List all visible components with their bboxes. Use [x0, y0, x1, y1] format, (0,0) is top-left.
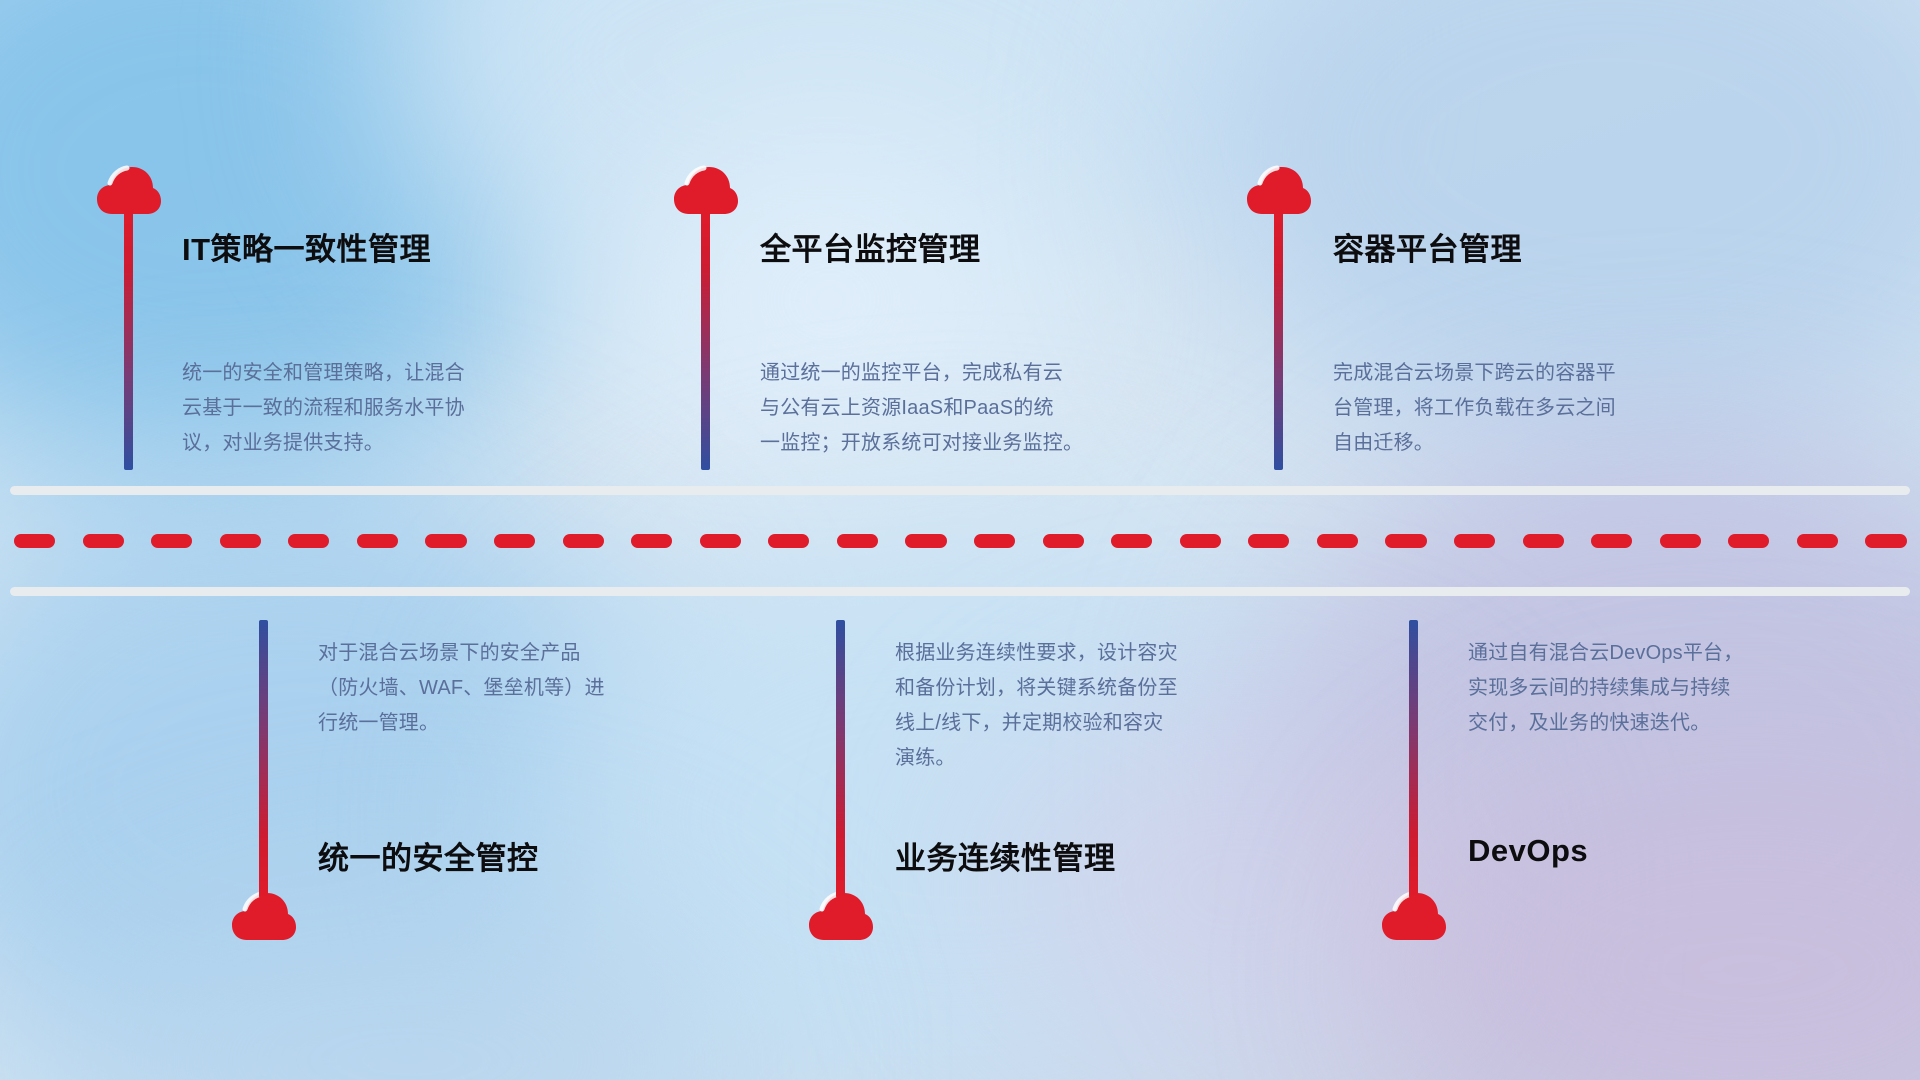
body-line: 台管理，将工作负载在多云之间: [1333, 391, 1616, 426]
bottom-item-2-body: 根据业务连续性要求，设计容灾 和备份计划，将关键系统备份至 线上/线下，并定期校…: [895, 636, 1178, 776]
road-dash: [220, 534, 261, 548]
road-dash: [1797, 534, 1838, 548]
road-line-bottom: [10, 587, 1910, 596]
road-dash: [1660, 534, 1701, 548]
body-line: 根据业务连续性要求，设计容灾: [895, 636, 1178, 671]
body-line: 云基于一致的流程和服务水平协: [182, 391, 465, 426]
road-dash: [151, 534, 192, 548]
road-dash: [1523, 534, 1564, 548]
bottom-item-1-body: 对于混合云场景下的安全产品 （防火墙、WAF、堡垒机等）进 行统一管理。: [318, 636, 605, 741]
top-item-1-title: IT策略一致性管理: [182, 224, 431, 269]
road-dash: [14, 534, 55, 548]
body-line: 与公有云上资源IaaS和PaaS的统: [760, 391, 1083, 426]
pin-stem: [701, 208, 710, 470]
pin-stem: [124, 208, 133, 470]
road-dash: [905, 534, 946, 548]
infographic-canvas: IT策略一致性管理 统一的安全和管理策略，让混合 云基于一致的流程和服务水平协 …: [0, 0, 1920, 1080]
bottom-item-3-title: DevOps: [1468, 833, 1588, 869]
body-line: 完成混合云场景下跨云的容器平: [1333, 356, 1616, 391]
body-line: 通过统一的监控平台，完成私有云: [760, 356, 1083, 391]
body-line: （防火墙、WAF、堡垒机等）进: [318, 671, 605, 706]
road-dash: [425, 534, 466, 548]
bottom-item-3-body: 通过自有混合云DevOps平台， 实现多云间的持续集成与持续 交付，及业务的快速…: [1468, 636, 1743, 741]
body-line: 演练。: [895, 741, 1178, 776]
road-dash: [357, 534, 398, 548]
pin-stem: [1409, 620, 1418, 898]
top-item-3-body: 完成混合云场景下跨云的容器平 台管理，将工作负载在多云之间 自由迁移。: [1333, 356, 1616, 461]
road-dash: [1317, 534, 1358, 548]
pin-stem: [1274, 208, 1283, 470]
road-divider: [0, 486, 1920, 596]
road-dash: [288, 534, 329, 548]
road-dash: [974, 534, 1015, 548]
road-dash: [1180, 534, 1221, 548]
road-dash: [1865, 534, 1906, 548]
road-dash: [494, 534, 535, 548]
body-line: 一监控；开放系统可对接业务监控。: [760, 426, 1083, 461]
top-item-2-body: 通过统一的监控平台，完成私有云 与公有云上资源IaaS和PaaS的统 一监控；开…: [760, 356, 1083, 461]
road-dash: [1248, 534, 1289, 548]
road-dash: [1043, 534, 1084, 548]
road-dash-row: [0, 534, 1920, 548]
body-line: 线上/线下，并定期校验和容灾: [895, 706, 1178, 741]
road-dash: [563, 534, 604, 548]
body-line: 和备份计划，将关键系统备份至: [895, 671, 1178, 706]
road-dash: [768, 534, 809, 548]
body-line: 交付，及业务的快速迭代。: [1468, 706, 1743, 741]
body-line: 自由迁移。: [1333, 426, 1616, 461]
road-line-top: [10, 486, 1910, 495]
top-item-1-body: 统一的安全和管理策略，让混合 云基于一致的流程和服务水平协 议，对业务提供支持。: [182, 356, 465, 461]
body-line: 对于混合云场景下的安全产品: [318, 636, 605, 671]
body-line: 统一的安全和管理策略，让混合: [182, 356, 465, 391]
top-item-3-title: 容器平台管理: [1333, 224, 1522, 269]
bottom-item-1-title: 统一的安全管控: [318, 833, 539, 878]
body-line: 行统一管理。: [318, 706, 605, 741]
pin-stem: [836, 620, 845, 898]
road-dash: [700, 534, 741, 548]
body-line: 通过自有混合云DevOps平台，: [1468, 636, 1743, 671]
body-line: 议，对业务提供支持。: [182, 426, 465, 461]
top-item-2-title: 全平台监控管理: [760, 224, 981, 269]
road-dash: [1454, 534, 1495, 548]
road-dash: [631, 534, 672, 548]
body-line: 实现多云间的持续集成与持续: [1468, 671, 1743, 706]
road-dash: [83, 534, 124, 548]
road-dash: [1385, 534, 1426, 548]
pin-stem: [259, 620, 268, 898]
road-dash: [837, 534, 878, 548]
road-dash: [1728, 534, 1769, 548]
road-dash: [1111, 534, 1152, 548]
road-dash: [1591, 534, 1632, 548]
bottom-item-2-title: 业务连续性管理: [895, 833, 1116, 878]
